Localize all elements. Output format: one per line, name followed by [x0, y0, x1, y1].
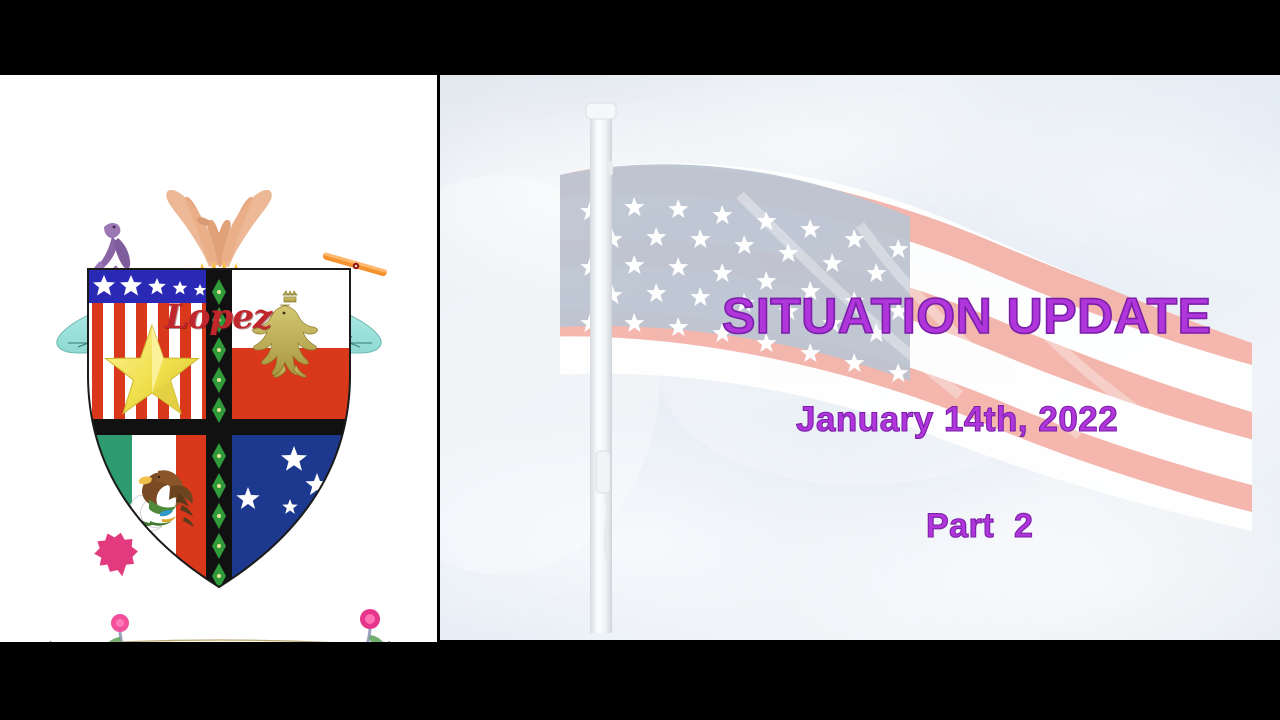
shield-quarter-4 [219, 427, 350, 602]
flag-photo-panel: SITUATION UPDATE January 14th, 2022 Part… [440, 75, 1280, 640]
shield-quarter-2 [219, 269, 350, 427]
carnation-right-icon [348, 609, 389, 642]
coat-of-arms-illustration [0, 75, 437, 642]
shield-quarter-3 [88, 427, 219, 602]
carnation-left-icon [94, 533, 142, 642]
coat-of-arms-panel: Lopez Connubium obduro, connubium saepiu… [0, 75, 437, 642]
letterbox-top-bar [0, 0, 1280, 75]
shield-quarter-1 [88, 269, 220, 427]
date-title: January 14th, 2022 [796, 400, 1118, 440]
main-title: SITUATION UPDATE [722, 287, 1211, 345]
slide-stage: Lopez Connubium obduro, connubium saepiu… [0, 0, 1280, 720]
content-band: Lopez Connubium obduro, connubium saepiu… [0, 75, 1280, 642]
part-title: Part 2 [926, 507, 1033, 546]
phoenix-crest-icon [166, 190, 272, 267]
letterbox-bottom-bar [0, 642, 1280, 720]
surname-text: Lopez [138, 297, 298, 337]
title-overlay: SITUATION UPDATE January 14th, 2022 Part… [440, 75, 1280, 640]
